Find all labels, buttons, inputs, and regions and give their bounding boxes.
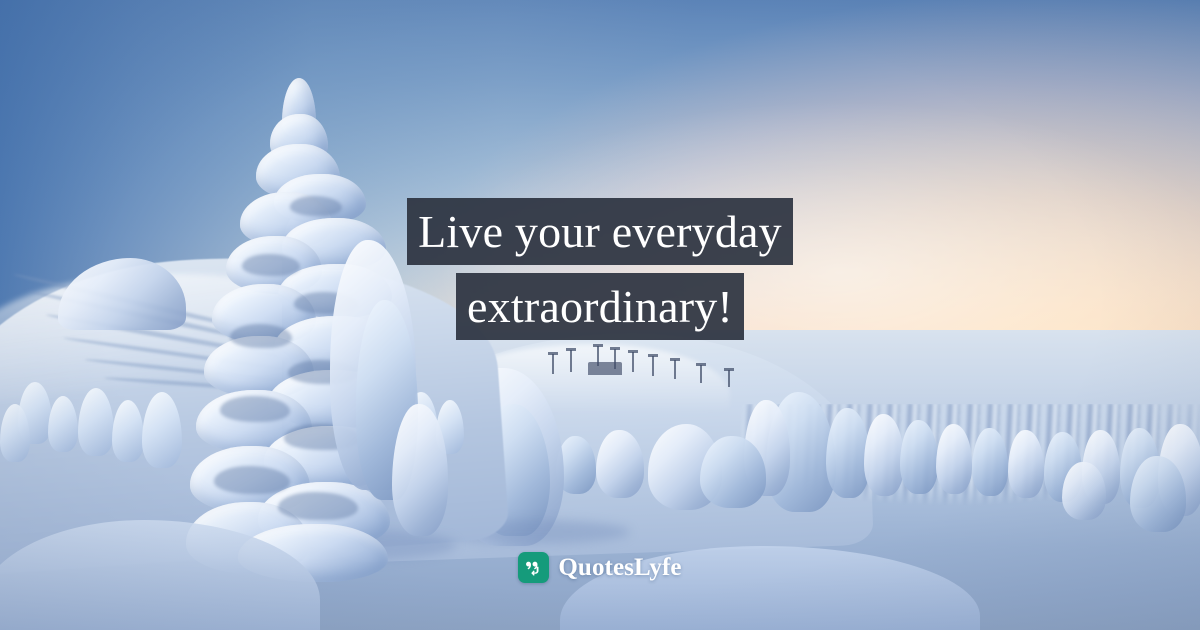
branch-shadow [214,466,290,494]
lift-pole [614,349,616,369]
quote-image-canvas: Live your everyday extraordinary! Quotes… [0,0,1200,630]
lift-pole [728,370,730,387]
lift-pole [700,365,702,383]
lift-pole [652,356,654,376]
quote-line-1-row: Live your everyday [0,198,1200,265]
brand-logo[interactable]: QuotesLyfe [0,552,1200,583]
branch-shadow [278,492,358,520]
lift-pole [632,352,634,372]
lift-station [588,362,622,375]
quote-overlay: Live your everyday extraordinary! [0,198,1200,340]
quote-line-1: Live your everyday [407,198,793,265]
quote-line-2-row: extraordinary! [0,273,1200,340]
lift-pole [552,354,554,374]
snow-tree [1062,462,1106,520]
lift-pole [674,360,676,379]
branch-shadow [220,396,290,422]
quote-mark-icon [518,552,549,583]
quote-line-2: extraordinary! [456,273,744,340]
lift-pole [597,346,599,366]
lift-pole [570,350,572,372]
brand-name: QuotesLyfe [558,554,681,582]
